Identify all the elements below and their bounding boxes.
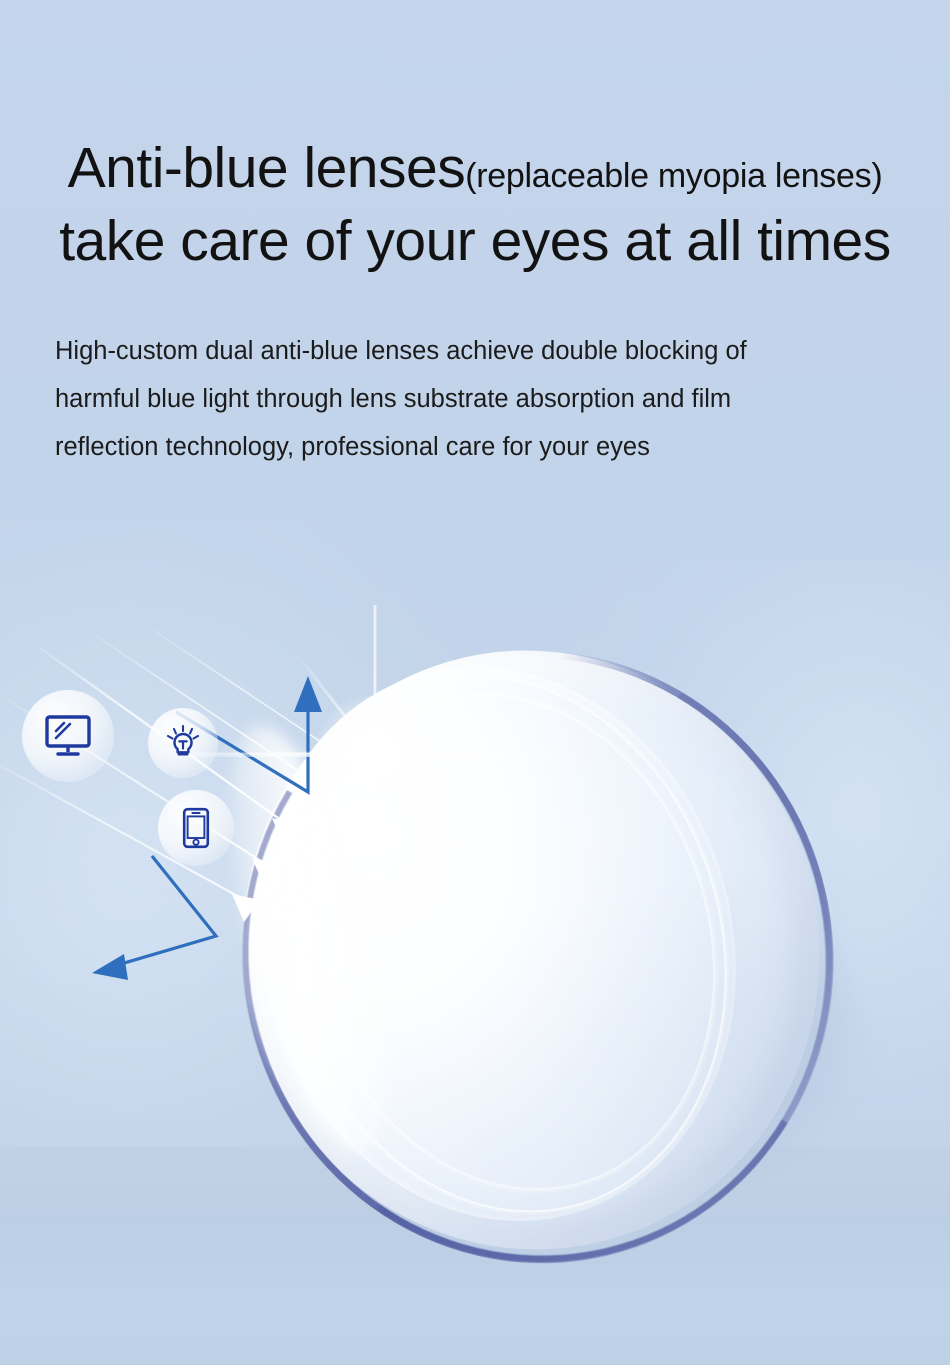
smartphone-icon: [182, 807, 210, 849]
lightbulb-icon-bubble: [148, 708, 218, 778]
monitor-icon: [44, 714, 92, 758]
monitor-icon-bubble: [22, 690, 114, 782]
incoming-ray-arrowheads: [232, 818, 300, 922]
lightbulb-icon: [164, 724, 202, 762]
light-ray-diagram: [0, 0, 950, 1365]
product-poster: Anti-blue lenses(replaceable myopia lens…: [0, 0, 950, 1365]
smartphone-icon-bubble: [158, 790, 234, 866]
